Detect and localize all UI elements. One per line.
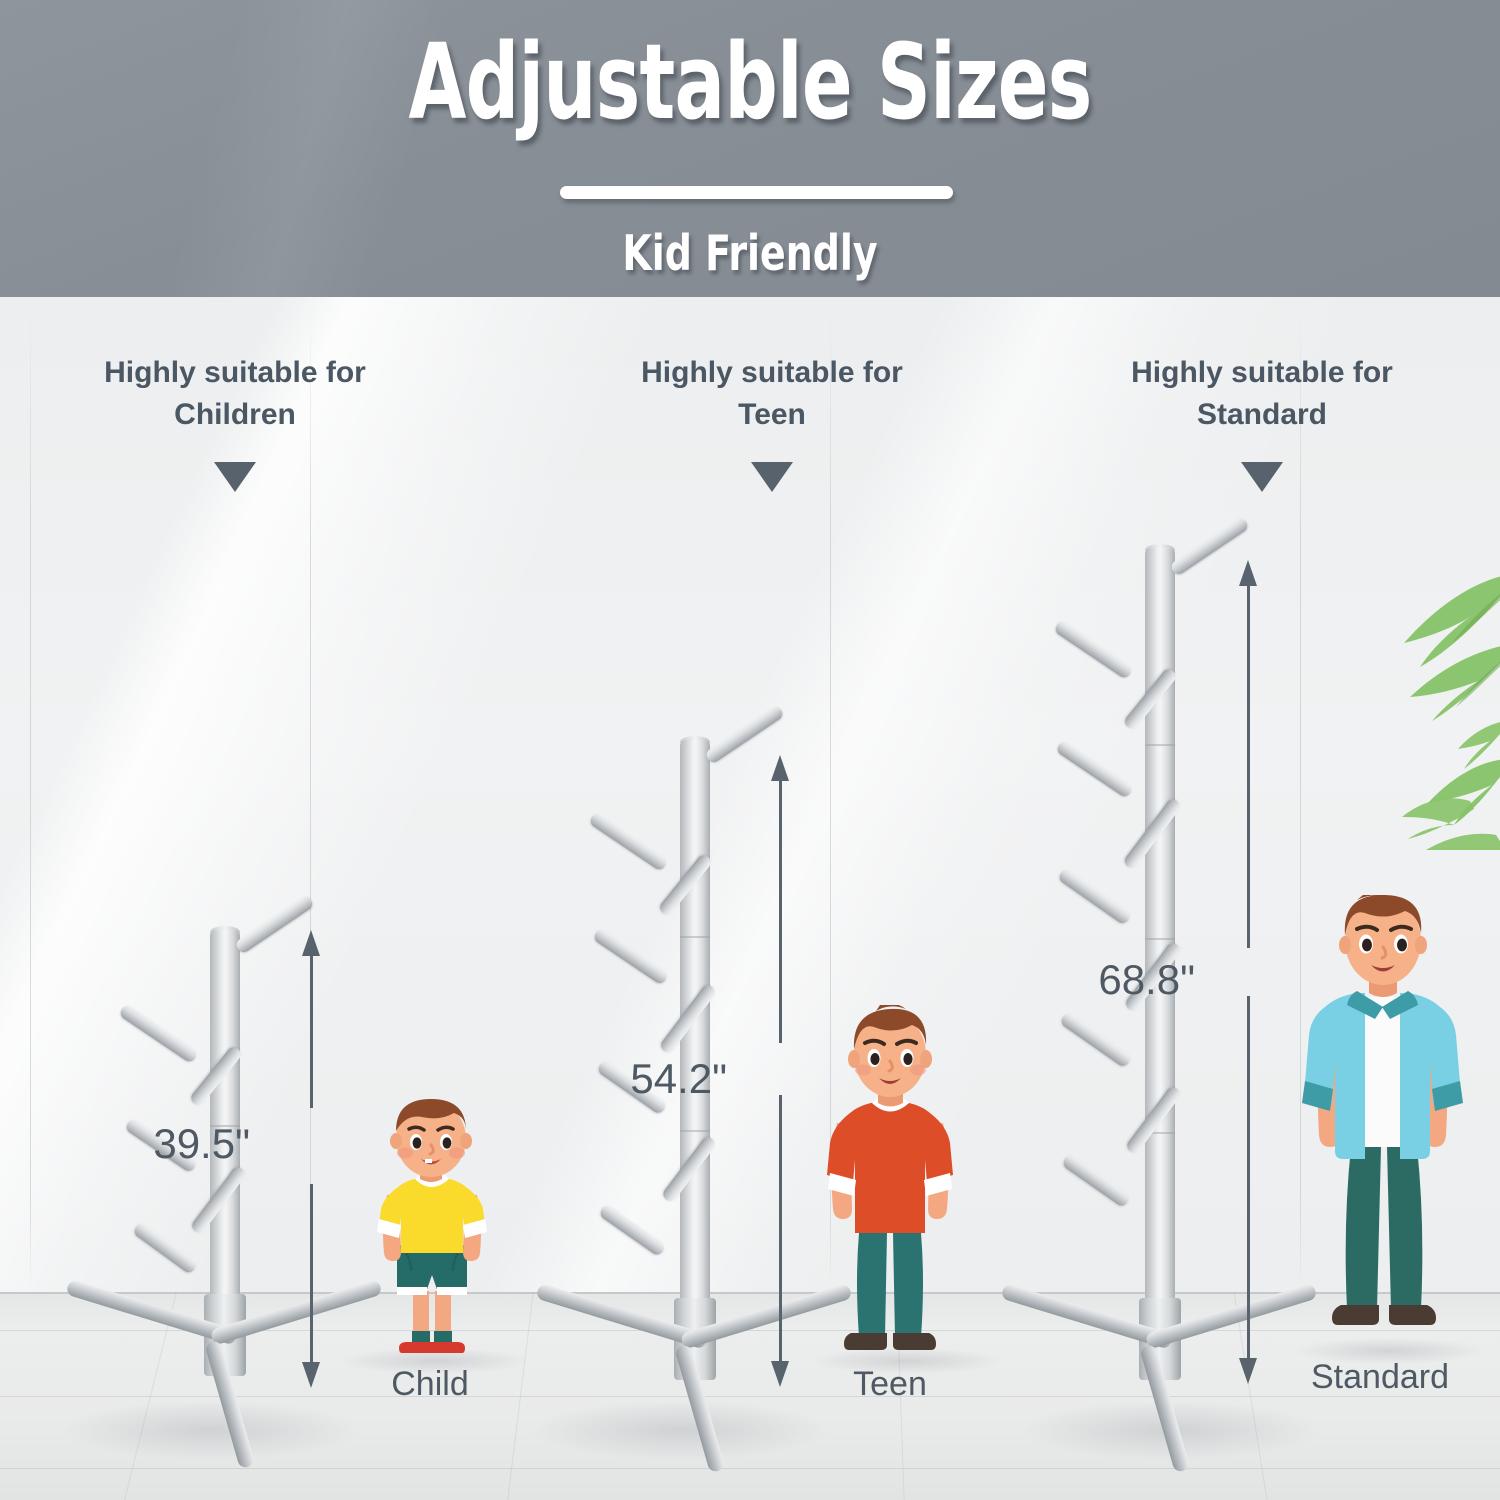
rack-segment-joint [680, 1130, 710, 1132]
rack-ground-shadow [60, 1400, 360, 1460]
header-banner: Adjustable Sizes Kid Friendly [0, 0, 1500, 297]
person-label-teen: Teen [740, 1365, 1040, 1404]
measurement-value: 54.2" [630, 1055, 727, 1103]
column-heading-line2: Teen [562, 394, 982, 436]
page-title: Adjustable Sizes [150, 30, 1350, 134]
column-heading-line1: Highly suitable for [25, 352, 445, 394]
title-divider [560, 186, 953, 199]
rack-segment-joint [680, 936, 710, 938]
wall-seam [30, 297, 31, 1292]
column-heading-line2: Standard [1052, 394, 1472, 436]
wall-seam [310, 297, 311, 1292]
column-heading-children: Highly suitable for Children [25, 352, 445, 436]
measurement-value: 68.8" [1098, 956, 1195, 1004]
measurement-value: 39.5" [153, 1120, 250, 1168]
rack-segment-joint [1145, 744, 1175, 746]
person-teen [815, 1005, 965, 1360]
measure-line [1247, 996, 1250, 1360]
column-heading-line2: Children [25, 394, 445, 436]
column-heading-standard: Highly suitable for Standard [1052, 352, 1472, 436]
rack-segment-joint [1145, 938, 1175, 940]
triangle-down-icon [751, 462, 793, 492]
triangle-down-icon [214, 462, 256, 492]
measure-line [310, 954, 313, 1108]
measure-line [779, 1095, 782, 1363]
arrow-head-up-icon [1239, 560, 1257, 586]
arrow-head-up-icon [302, 930, 320, 956]
page-subtitle: Kid Friendly [105, 225, 1395, 282]
measure-line [779, 779, 782, 1043]
floor-tile-line [0, 1468, 1500, 1469]
column-heading-teen: Highly suitable for Teen [562, 352, 982, 436]
rack-pole [1145, 548, 1175, 1306]
infographic-canvas: Adjustable Sizes Kid Friendly Highly sui… [0, 0, 1500, 1500]
person-standard [1295, 895, 1470, 1350]
potted-plant-leaves-icon [1366, 545, 1500, 850]
arrow-head-up-icon [771, 755, 789, 781]
measure-line [1247, 584, 1250, 948]
rack-pole [210, 930, 240, 1302]
person-label-child: Child [280, 1365, 580, 1404]
column-heading-line1: Highly suitable for [562, 352, 982, 394]
measure-line [310, 1184, 313, 1364]
column-heading-line1: Highly suitable for [1052, 352, 1472, 394]
person-child [355, 1095, 505, 1360]
triangle-down-icon [1241, 462, 1283, 492]
person-label-standard: Standard [1230, 1358, 1500, 1397]
rack-ground-shadow [530, 1400, 830, 1460]
